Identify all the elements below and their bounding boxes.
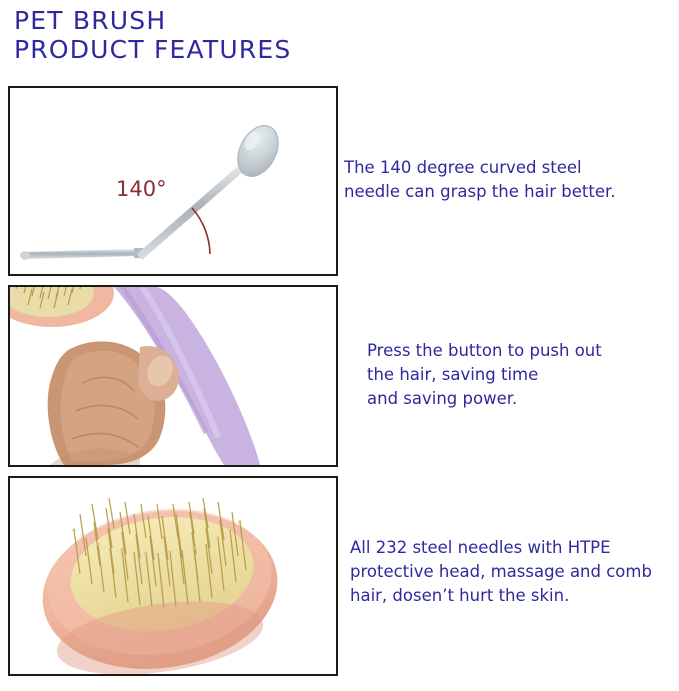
feature-row-push-button: Press the button to push out the hair, s… — [0, 285, 679, 467]
feature-text-push-button: Press the button to push out the hair, s… — [367, 339, 667, 411]
pink-pet-brush-bristles-photo — [10, 478, 336, 674]
page-title-line-2: PRODUCT FEATURES — [14, 35, 292, 64]
angle-annotation-label: 140° — [116, 177, 167, 201]
feature-text-curved-needle: The 140 degree curved steel needle can g… — [344, 156, 674, 204]
feature-image-frame-curved-needle: 140° — [8, 86, 338, 276]
hand-pressing-brush-button-photo — [10, 287, 336, 465]
feature-row-curved-needle: 140° The 140 degree curved steel needle … — [0, 86, 679, 276]
page-title: PET BRUSH PRODUCT FEATURES — [14, 6, 292, 64]
feature-image-frame-push-button — [8, 285, 338, 467]
page-title-line-1: PET BRUSH — [14, 6, 292, 35]
feature-row-steel-needles: All 232 steel needles with HTPE protecti… — [0, 476, 679, 676]
curved-steel-needle-diagram: 140° — [10, 88, 336, 274]
feature-image-frame-steel-needles — [8, 476, 338, 676]
feature-text-steel-needles: All 232 steel needles with HTPE protecti… — [350, 536, 675, 608]
